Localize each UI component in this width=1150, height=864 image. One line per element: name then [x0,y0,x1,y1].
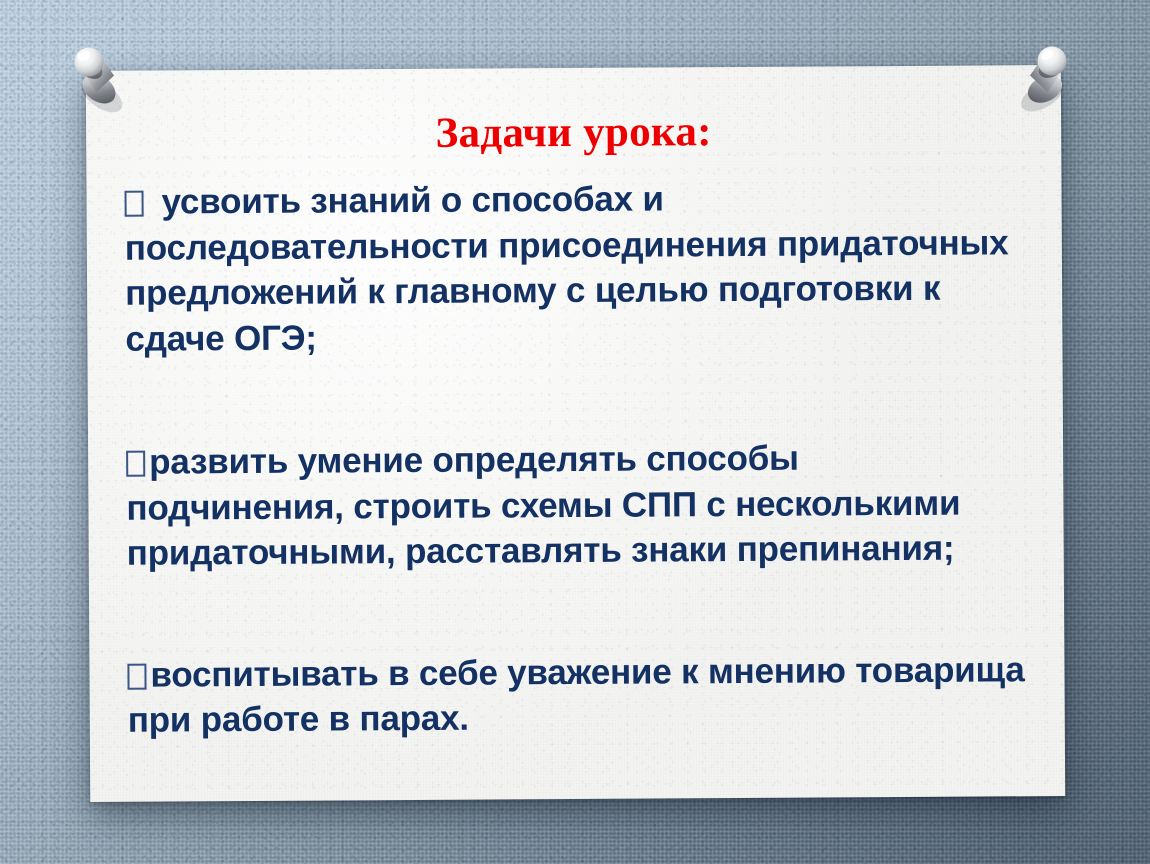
pushpin-top-right-icon [1012,38,1086,112]
list-item: воспитывать в себе уважение к мнению тов… [127,647,1027,743]
list-item-text: усвоить знаний о способах и последовател… [125,180,1009,359]
bullet-box-icon [125,191,144,217]
page-title: Задачи урока: [124,107,1023,158]
list-item-text: развить умение определять способы подчин… [126,439,960,573]
slide-content: Задачи урока: усвоить знаний о способах … [86,65,1065,802]
objectives-list: усвоить знаний о способах и последовател… [124,174,1026,743]
pushpin-top-left-icon [62,38,136,112]
bullet-box-icon [126,451,145,477]
list-item-text: воспитывать в себе уважение к мнению тов… [128,650,1025,740]
list-item: усвоить знаний о способах и последовател… [124,174,1024,361]
paper-sheet: Задачи урока: усвоить знаний о способах … [86,65,1065,802]
list-item: развить умение определять способы подчин… [126,434,1026,576]
slide-canvas: Задачи урока: усвоить знаний о способах … [0,0,1150,864]
bullet-box-icon [127,663,146,689]
